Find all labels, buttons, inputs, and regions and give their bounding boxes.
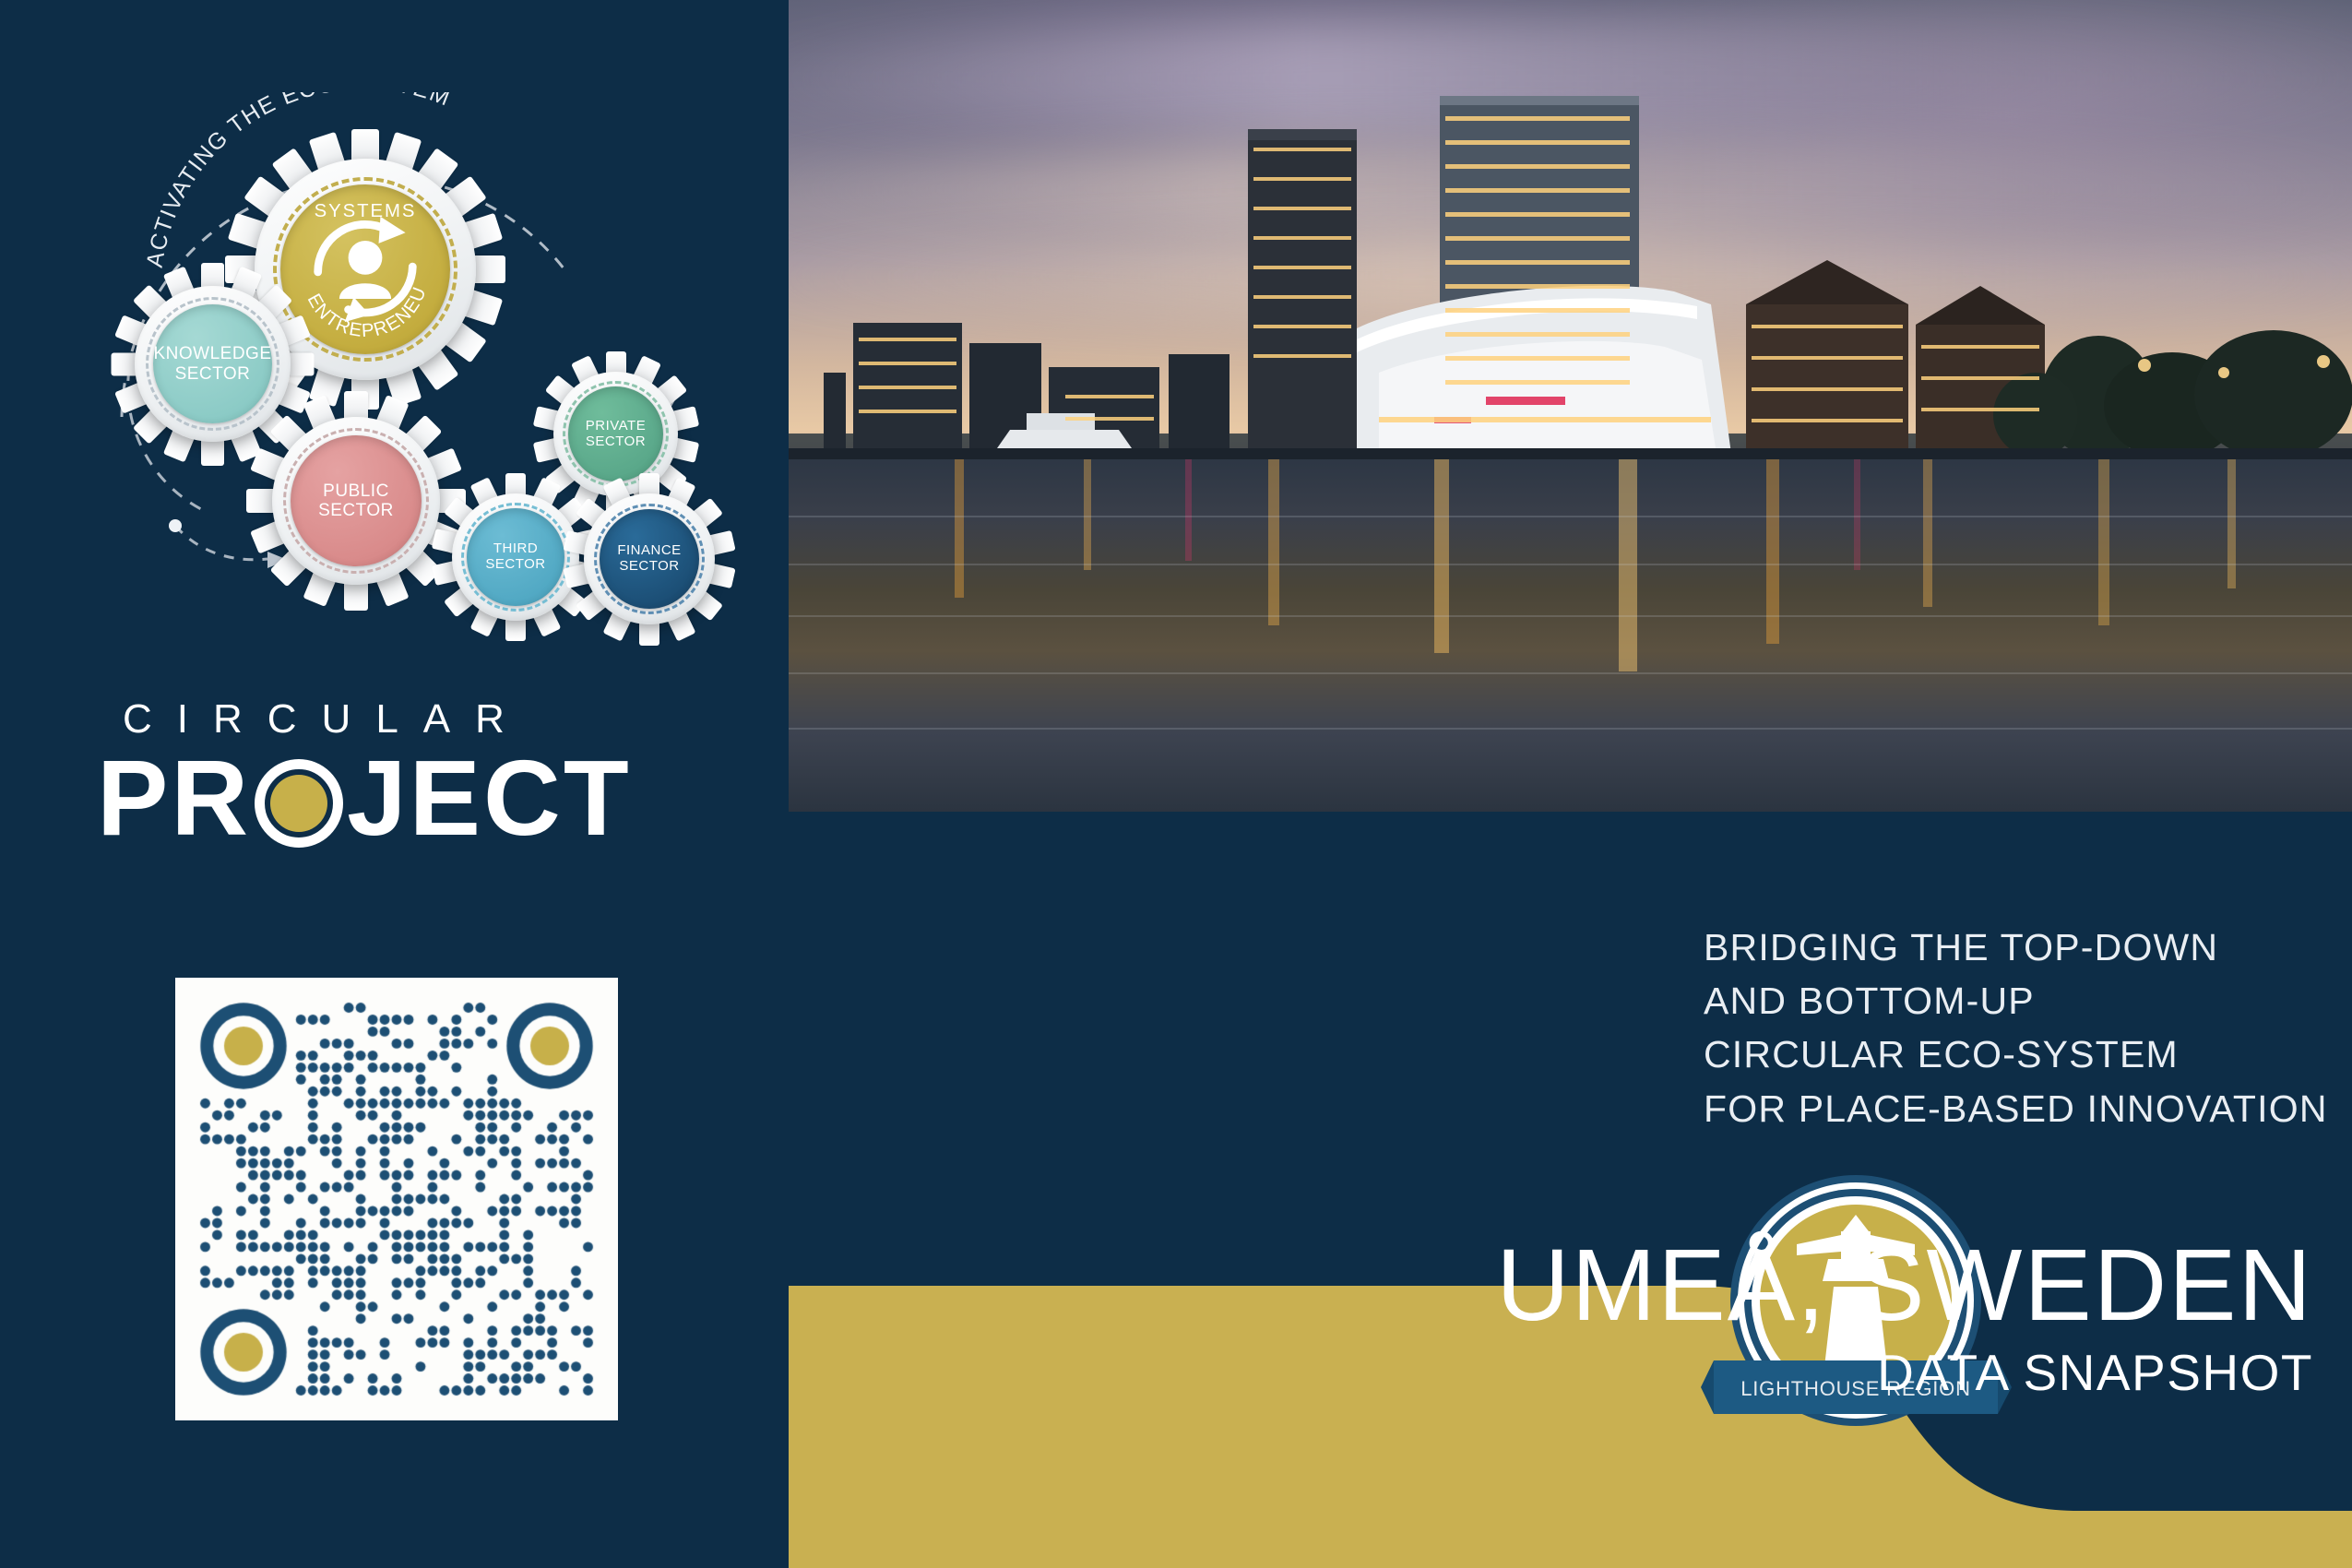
gear-hub-private-sector: PRIVATE SECTOR — [568, 386, 663, 481]
tagline-line-4: FOR PLACE-BASED INNOVATION — [1704, 1082, 2352, 1135]
gear-finance-sector[interactable]: FINANCE SECTOR — [570, 480, 729, 638]
tagline-line-1: BRIDGING THE TOP-DOWN — [1704, 921, 2352, 974]
gear-label-line1: KNOWLEDGE — [153, 344, 271, 363]
gear-label-line1: PRIVATE — [586, 419, 646, 434]
photo-skyline — [789, 0, 2352, 812]
gear-label-line2: SECTOR — [619, 559, 679, 575]
gear-label-line1: FINANCE — [617, 543, 681, 559]
poster-canvas: ACTIVATING THE ECO-SYSTEM — [0, 0, 2352, 1568]
ecosystem-gear-diagram: ACTIVATING THE ECO-SYSTEM — [37, 92, 766, 609]
gear-label-line1: PUBLIC — [323, 481, 389, 501]
right-panel: BRIDGING THE TOP-DOWN AND BOTTOM-UP CIRC… — [789, 0, 2352, 1568]
umea-waterfront-photo — [789, 0, 2352, 812]
gear-label-line2: SECTOR — [586, 434, 646, 450]
gear-label-systems: SYSTEMS — [315, 201, 417, 221]
gear-label-line2: SECTOR — [318, 501, 394, 520]
location-city: UMEÅ, SWEDEN — [1496, 1234, 2313, 1337]
logo-project-after: JECT — [347, 738, 632, 858]
qr-code[interactable] — [175, 978, 618, 1420]
gear-public-sector[interactable]: PUBLIC SECTOR — [254, 398, 458, 603]
gear-hub-public-sector: PUBLIC SECTOR — [291, 435, 422, 566]
tagline-line-2: AND BOTTOM-UP — [1704, 974, 2352, 1028]
gear-label-line2: SECTOR — [175, 364, 251, 384]
location-title-block: UMEÅ, SWEDEN DATA SNAPSHOT — [1496, 1234, 2313, 1402]
gear-hub-third-sector: THIRD SECTOR — [467, 508, 564, 606]
logo-o-ring-icon — [255, 759, 343, 848]
circular-project-logo: CIRCULAR PRJECT — [97, 696, 706, 849]
logo-word-circular: CIRCULAR — [97, 696, 706, 742]
location-subtitle: DATA SNAPSHOT — [1496, 1343, 2313, 1402]
tagline-block: BRIDGING THE TOP-DOWN AND BOTTOM-UP CIRC… — [1704, 921, 2352, 1135]
gear-label-line2: SECTOR — [485, 557, 545, 573]
gear-hub-finance-sector: FINANCE SECTOR — [600, 509, 699, 609]
gear-label-line1: THIRD — [493, 541, 538, 557]
logo-word-project: PRJECT — [97, 746, 706, 849]
tagline-line-3: CIRCULAR ECO-SYSTEM — [1704, 1028, 2352, 1081]
logo-project-before: PR — [97, 738, 251, 858]
left-panel: ACTIVATING THE ECO-SYSTEM — [0, 0, 789, 1568]
gear-hub-knowledge-sector: KNOWLEDGE SECTOR — [153, 304, 272, 423]
qr-code-canvas[interactable] — [199, 1002, 594, 1396]
